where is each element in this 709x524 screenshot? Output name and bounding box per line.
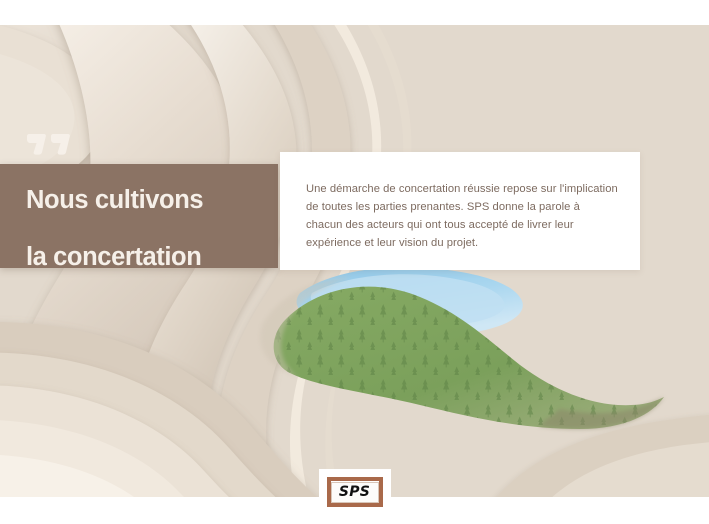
quote-banner-content: Nous cultivons la concertation (0, 132, 278, 300)
double-quote-icon (26, 132, 72, 156)
description-text: Une démarche de concertation réussie rep… (306, 180, 618, 253)
headline-line-2: la concertation (26, 243, 264, 272)
sps-logo: SPS (319, 469, 391, 515)
logo-text: SPS (339, 485, 370, 499)
description-card: Une démarche de concertation réussie rep… (280, 152, 640, 270)
top-letterbox-band (0, 0, 709, 25)
logo-inner-frame: SPS (331, 482, 379, 503)
quote-banner: Nous cultivons la concertation (0, 164, 278, 268)
logo-frame: SPS (327, 477, 383, 507)
headline-line-1: Nous cultivons (26, 186, 264, 215)
page-title: Nous cultivons la concertation (26, 157, 264, 300)
poster-canvas: Nous cultivons la concertation Une démar… (0, 0, 709, 524)
